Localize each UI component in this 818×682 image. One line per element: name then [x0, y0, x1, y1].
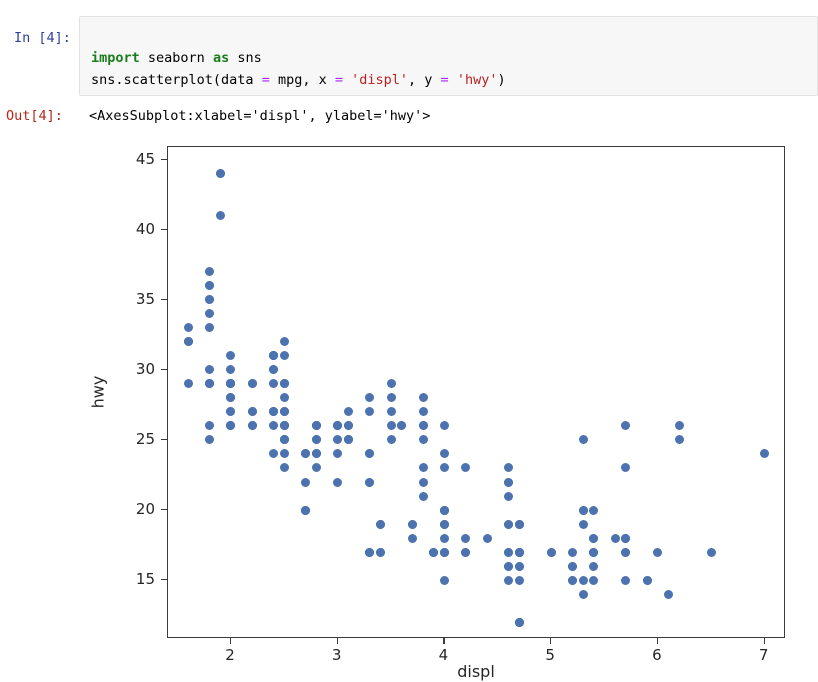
x-tick-mark	[230, 638, 231, 644]
notebook-input-cell[interactable]: In [4]: import seaborn as sns sns.scatte…	[0, 8, 818, 94]
scatter-point	[312, 463, 321, 472]
output-prompt-label: Out[4]:	[6, 108, 63, 124]
scatter-point	[440, 576, 449, 585]
x-tick-label: 5	[545, 646, 555, 664]
scatter-point	[312, 449, 321, 458]
scatter-point	[504, 520, 513, 529]
scatter-point	[269, 421, 278, 430]
scatter-point	[226, 379, 235, 388]
token-alias-name: sns	[229, 50, 262, 66]
scatter-point	[184, 379, 193, 388]
scatter-point	[504, 492, 513, 501]
scatter-point	[589, 562, 598, 571]
scatter-point	[365, 478, 374, 487]
token-equals-1: =	[262, 72, 270, 88]
scatter-point	[301, 478, 310, 487]
x-tick-mark	[337, 638, 338, 644]
scatter-point	[280, 421, 289, 430]
scatter-point	[568, 562, 577, 571]
scatter-point	[419, 463, 428, 472]
scatter-point	[280, 435, 289, 444]
scatter-point	[333, 421, 342, 430]
scatter-point	[589, 534, 598, 543]
token-call-start: sns.scatterplot(data	[91, 72, 262, 88]
scatter-point	[387, 435, 396, 444]
scatter-point	[579, 506, 588, 515]
scatter-point	[675, 435, 684, 444]
scatter-point	[461, 534, 470, 543]
scatter-point	[333, 478, 342, 487]
scatter-point	[419, 407, 428, 416]
token-string-displ: 'displ'	[343, 72, 408, 88]
scatter-point	[643, 576, 652, 585]
scatter-point	[419, 478, 428, 487]
scatter-point	[419, 421, 428, 430]
scatter-point	[579, 435, 588, 444]
scatter-point	[760, 449, 769, 458]
scatter-point	[440, 534, 449, 543]
scatter-point	[387, 421, 396, 430]
scatter-point	[226, 351, 235, 360]
scatter-point	[280, 449, 289, 458]
scatter-point	[611, 534, 620, 543]
scatter-point	[429, 548, 438, 557]
scatter-point	[248, 379, 257, 388]
scatter-point	[621, 534, 630, 543]
notebook-page: In [4]: import seaborn as sns sns.scatte…	[0, 0, 818, 682]
scatter-point	[280, 407, 289, 416]
scatter-point	[664, 590, 673, 599]
scatter-point	[387, 407, 396, 416]
scatter-point	[419, 492, 428, 501]
scatter-point	[387, 393, 396, 402]
scatter-point	[579, 576, 588, 585]
scatter-point	[579, 520, 588, 529]
scatter-point	[205, 421, 214, 430]
x-tick-mark	[764, 638, 765, 644]
x-tick-mark	[443, 638, 444, 644]
scatter-point	[333, 449, 342, 458]
scatter-point	[621, 463, 630, 472]
scatter-point	[589, 548, 598, 557]
scatter-point	[653, 548, 662, 557]
scatter-point	[504, 478, 513, 487]
code-editor-box[interactable]: import seaborn as sns sns.scatterplot(da…	[79, 16, 818, 96]
scatter-point	[216, 169, 225, 178]
scatter-point	[579, 590, 588, 599]
scatter-point	[707, 548, 716, 557]
scatter-point	[269, 365, 278, 374]
token-call-end: )	[497, 72, 505, 88]
scatter-point	[312, 421, 321, 430]
scatter-point	[568, 548, 577, 557]
scatter-point	[344, 407, 353, 416]
scatter-point	[226, 365, 235, 374]
scatter-point	[184, 337, 193, 346]
x-tick-label: 2	[225, 646, 235, 664]
scatter-point	[675, 421, 684, 430]
scatter-point	[515, 618, 524, 627]
scatter-point	[568, 576, 577, 585]
scatter-point	[216, 211, 225, 220]
y-tick-label: 35	[136, 290, 155, 308]
x-tick-label: 6	[652, 646, 662, 664]
scatter-point	[589, 576, 598, 585]
x-tick-label: 4	[439, 646, 449, 664]
scatter-point	[226, 407, 235, 416]
input-prompt-label: In [4]:	[14, 30, 71, 46]
scatter-point	[365, 449, 374, 458]
x-axis-title: displ	[457, 662, 495, 681]
y-tick-label: 25	[136, 430, 155, 448]
scatter-point	[440, 520, 449, 529]
scatter-point	[205, 435, 214, 444]
scatter-point	[483, 534, 492, 543]
scatter-point	[504, 576, 513, 585]
scatter-point	[419, 393, 428, 402]
scatter-point	[344, 421, 353, 430]
code-source[interactable]: import seaborn as sns sns.scatterplot(da…	[91, 47, 506, 91]
scatter-point	[269, 379, 278, 388]
scatter-point	[504, 562, 513, 571]
token-string-hwy: 'hwy'	[449, 72, 498, 88]
y-tick-label: 30	[136, 360, 155, 378]
scatter-point	[408, 520, 417, 529]
scatter-point	[397, 421, 406, 430]
scatter-point	[226, 393, 235, 402]
scatter-point	[440, 421, 449, 430]
scatter-point	[333, 435, 342, 444]
token-equals-3: =	[441, 72, 449, 88]
scatter-point	[504, 548, 513, 557]
token-import-keyword: import	[91, 50, 140, 66]
scatter-point	[248, 421, 257, 430]
scatter-point	[269, 351, 278, 360]
scatter-point	[280, 379, 289, 388]
scatter-point	[440, 463, 449, 472]
x-tick-label: 7	[759, 646, 769, 664]
scatter-point	[461, 463, 470, 472]
x-tick-mark	[657, 638, 658, 644]
scatter-point	[205, 295, 214, 304]
scatter-point	[461, 548, 470, 557]
token-equals-2: =	[335, 72, 343, 88]
y-tick-label: 20	[136, 500, 155, 518]
scatter-point	[205, 323, 214, 332]
scatter-point	[419, 435, 428, 444]
scatter-point	[365, 393, 374, 402]
scatter-point	[312, 435, 321, 444]
scatter-point	[440, 506, 449, 515]
scatter-point	[301, 449, 310, 458]
scatter-point	[408, 534, 417, 543]
scatter-point	[387, 379, 396, 388]
token-module-name: seaborn	[140, 50, 213, 66]
output-repr-text: <AxesSubplot:xlabel='displ', ylabel='hwy…	[89, 108, 430, 124]
scatter-point	[515, 548, 524, 557]
scatter-point	[269, 449, 278, 458]
scatter-point	[205, 365, 214, 374]
scatter-point	[621, 576, 630, 585]
scatter-point	[365, 407, 374, 416]
scatter-point	[248, 407, 257, 416]
scatter-point	[344, 435, 353, 444]
y-tick-label: 45	[136, 150, 155, 168]
scatter-point	[184, 323, 193, 332]
matplotlib-figure: 15202530354045 234567 displ hwy	[0, 128, 818, 682]
scatter-point	[376, 548, 385, 557]
scatter-point	[205, 309, 214, 318]
token-y-arg: , y	[408, 72, 441, 88]
x-tick-label: 3	[332, 646, 342, 664]
scatter-point	[280, 393, 289, 402]
y-tick-label: 15	[136, 570, 155, 588]
scatter-point	[376, 520, 385, 529]
scatter-point	[515, 576, 524, 585]
scatter-point	[621, 421, 630, 430]
scatter-point	[269, 407, 278, 416]
token-data-arg: mpg, x	[270, 72, 335, 88]
scatter-point	[205, 267, 214, 276]
scatter-point	[226, 421, 235, 430]
scatter-point	[365, 548, 374, 557]
scatter-point	[280, 463, 289, 472]
scatter-point	[515, 520, 524, 529]
scatter-point	[504, 463, 513, 472]
y-axis-title: hwy	[89, 376, 108, 409]
scatter-point	[440, 449, 449, 458]
scatter-point	[589, 506, 598, 515]
scatter-plot-axes	[167, 146, 785, 638]
token-as-keyword: as	[213, 50, 229, 66]
scatter-point	[205, 281, 214, 290]
scatter-point	[301, 506, 310, 515]
x-tick-mark	[550, 638, 551, 644]
scatter-point	[205, 379, 214, 388]
scatter-point	[515, 562, 524, 571]
y-tick-label: 40	[136, 220, 155, 238]
scatter-point	[280, 337, 289, 346]
scatter-point	[547, 548, 556, 557]
y-axis-tick-labels: 15202530354045	[115, 128, 155, 648]
scatter-point	[621, 548, 630, 557]
scatter-point	[440, 548, 449, 557]
scatter-point	[280, 351, 289, 360]
